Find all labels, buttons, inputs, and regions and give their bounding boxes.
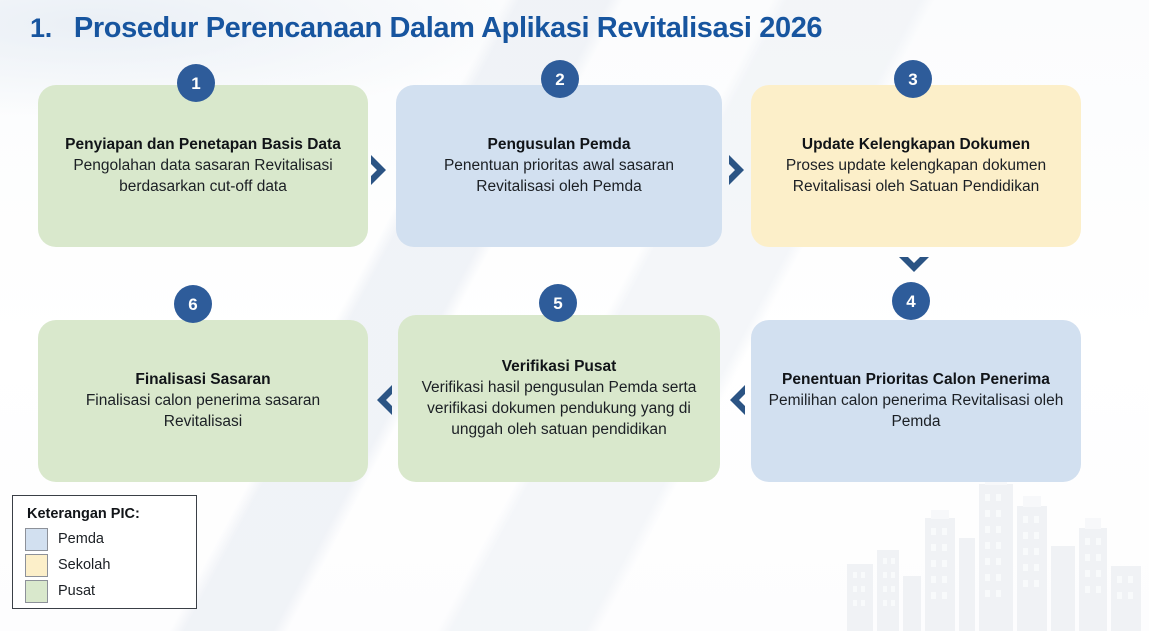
flow-step-2[interactable]: Pengusulan Pemda Penentuan prioritas awa… [396, 85, 722, 247]
city-skyline-watermark [839, 466, 1149, 631]
flow-step-6[interactable]: Finalisasi Sasaran Finalisasi calon pene… [38, 320, 368, 482]
flow-step-5-title: Verifikasi Pusat [502, 357, 617, 378]
flow-step-1[interactable]: Penyiapan dan Penetapan Basis Data Pengo… [38, 85, 368, 247]
step-badge-5: 5 [539, 284, 577, 322]
title-text: Prosedur Perencanaan Dalam Aplikasi Revi… [74, 12, 822, 45]
step-badge-1: 1 [177, 64, 215, 102]
legend-item-pusat: Pusat [25, 580, 184, 603]
legend-label-sekolah: Sekolah [58, 558, 110, 573]
step-badge-3: 3 [894, 60, 932, 98]
arrow-step4-to-step5-icon [724, 382, 750, 418]
legend-label-pemda: Pemda [58, 532, 104, 547]
step-badge-6: 6 [174, 285, 212, 323]
legend-panel: Keterangan PIC: Pemda Sekolah Pusat [12, 495, 197, 609]
flow-step-6-description: Finalisasi calon penerima sasaran Revita… [52, 391, 354, 432]
flow-step-5[interactable]: Verifikasi Pusat Verifikasi hasil pengus… [398, 315, 720, 482]
flow-step-2-description: Penentuan prioritas awal sasaran Revital… [410, 156, 708, 197]
page-title: 1. Prosedur Perencanaan Dalam Aplikasi R… [30, 12, 822, 45]
flow-step-3-description: Proses update kelengkapan dokumen Revita… [765, 156, 1067, 197]
flow-step-3-title: Update Kelengkapan Dokumen [802, 135, 1030, 156]
arrow-step1-to-step2-icon [366, 152, 392, 188]
flow-step-4[interactable]: Penentuan Prioritas Calon Penerima Pemil… [751, 320, 1081, 482]
flow-step-6-title: Finalisasi Sasaran [135, 370, 270, 391]
step-badge-4: 4 [892, 282, 930, 320]
arrow-step5-to-step6-icon [371, 382, 397, 418]
flow-step-5-description: Verifikasi hasil pengusulan Pemda serta … [412, 378, 706, 440]
legend-item-sekolah: Sekolah [25, 554, 184, 577]
legend-item-pemda: Pemda [25, 528, 184, 551]
arrow-step2-to-step3-icon [724, 152, 750, 188]
legend-swatch-pusat [25, 580, 48, 603]
legend-label-pusat: Pusat [58, 584, 95, 599]
legend-swatch-sekolah [25, 554, 48, 577]
flow-step-4-title: Penentuan Prioritas Calon Penerima [782, 370, 1050, 391]
flow-step-1-title: Penyiapan dan Penetapan Basis Data [65, 135, 341, 156]
step-badge-2: 2 [541, 60, 579, 98]
flow-step-4-description: Pemilihan calon penerima Revitalisasi ol… [765, 391, 1067, 432]
title-number: 1. [30, 13, 52, 44]
flow-step-1-description: Pengolahan data sasaran Revitalisasi ber… [52, 156, 354, 197]
legend-swatch-pemda [25, 528, 48, 551]
flow-step-2-title: Pengusulan Pemda [488, 135, 631, 156]
arrow-step3-to-step4-icon [896, 252, 932, 278]
flow-step-3[interactable]: Update Kelengkapan Dokumen Proses update… [751, 85, 1081, 247]
legend-title: Keterangan PIC: [27, 506, 184, 522]
